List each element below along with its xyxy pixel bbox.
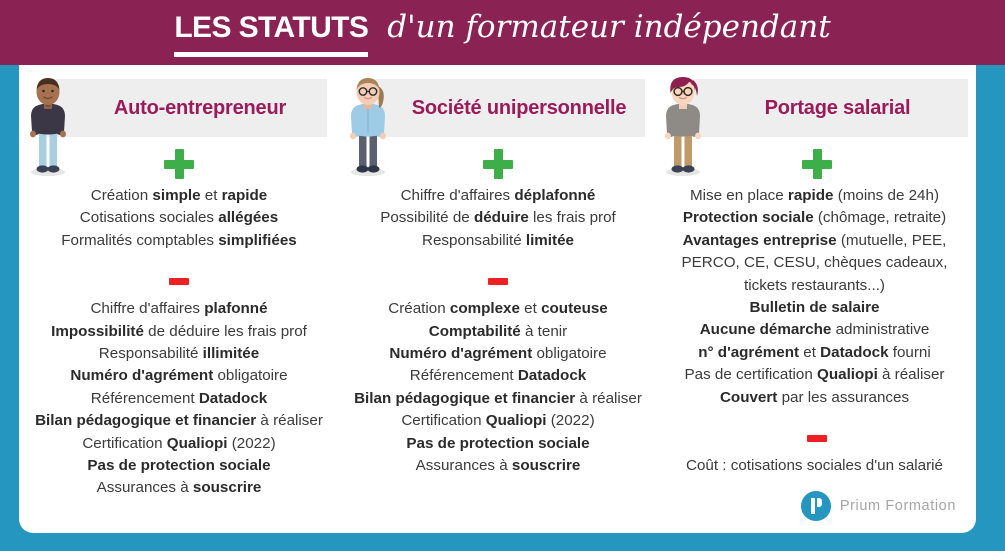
header-title-script: d'un formateur indépendant [387,12,830,43]
list-item: Responsabilité limitée [347,230,649,252]
prium-formation-logo: Prium Formation [801,491,956,521]
pros-list-societe-unipersonnelle: Chiffre d'affaires déplafonné Possibilit… [343,185,653,252]
list-item: Bilan pédagogique et financier à réalise… [27,410,331,432]
list-item: Création simple et rapide [27,185,331,207]
list-item: Impossibilité de déduire les frais prof [27,321,331,343]
list-item: Comptabilité à tenir [347,321,649,343]
list-item: Assurances à souscrire [27,477,331,499]
list-item: Numéro d'agrément obligatoire [347,343,649,365]
minus-icon [343,266,653,296]
list-item: Référencement Datadock [27,388,331,410]
list-item: Cotisations sociales allégées [27,207,331,229]
list-item: Couvert par les assurances [671,387,958,409]
list-item: Coût : cotisations sociales d'un salarié [671,455,958,477]
list-item: Numéro d'agrément obligatoire [27,365,331,387]
header-title-group: LES STATUTS d'un formateur indépendant [174,0,830,47]
infographic-poster: LES STATUTS d'un formateur indépendant [0,0,1005,551]
logo-text: Prium Formation [840,498,956,514]
list-item: Création complexe et couteuse [347,298,649,320]
column-header-auto-entrepreneur: Auto-entrepreneur [47,79,327,137]
pros-list-auto-entrepreneur: Création simple et rapide Cotisations so… [23,185,335,252]
column-header-portage-salarial: Portage salarial [681,79,968,137]
list-item: Pas de certification Qualiopi à réaliser [671,364,958,386]
cons-list-auto-entrepreneur: Chiffre d'affaires plafonné Impossibilit… [23,298,335,500]
list-item: Protection sociale (chômage, retraite) [671,207,958,229]
prium-p-logo-icon [801,491,831,521]
header-banner: LES STATUTS d'un formateur indépendant [0,0,1005,65]
column-societe-unipersonnelle: Société unipersonnelle Chiffre d'affaire… [339,79,657,533]
list-item: Mise en place rapide (moins de 24h) [671,185,958,207]
list-item: Bulletin de salaire [671,297,958,319]
content-card: Auto-entrepreneur Création simple et rap… [19,65,976,533]
column-title: Portage salarial [739,97,911,120]
man-avatar [22,74,74,179]
column-header-societe-unipersonnelle: Société unipersonnelle [367,79,645,137]
woman-redhair-avatar [657,74,709,179]
list-item: Certification Qualiopi (2022) [27,433,331,455]
list-item: Pas de protection sociale [347,433,649,455]
column-title: Auto-entrepreneur [88,97,286,120]
minus-icon [23,266,335,296]
list-item: Certification Qualiopi (2022) [347,410,649,432]
list-item: Assurances à souscrire [347,455,649,477]
list-item: n° d'agrément et Datadock fourni [671,342,958,364]
cons-list-societe-unipersonnelle: Création complexe et couteuse Comptabili… [343,298,653,477]
list-item: Chiffre d'affaires déplafonné [347,185,649,207]
column-title: Société unipersonnelle [386,97,627,120]
list-item: Bilan pédagogique et financier à réalise… [347,388,649,410]
list-item: Possibilité de déduire les frais prof [347,207,649,229]
list-item: Référencement Datadock [347,365,649,387]
header-title-strong: LES STATUTS [174,13,368,47]
cons-list-portage-salarial: Coût : cotisations sociales d'un salarié [661,455,972,477]
woman-ponytail-avatar [342,74,394,179]
columns-container: Auto-entrepreneur Création simple et rap… [19,65,976,533]
column-portage-salarial: Portage salarial Mise en place rapide (m… [657,79,976,533]
list-item: Responsabilité illimitée [27,343,331,365]
list-item: Formalités comptables simplifiées [27,230,331,252]
pros-list-portage-salarial: Mise en place rapide (moins de 24h) Prot… [661,185,972,409]
list-item: Avantages entreprise (mutuelle, PEE, PER… [671,230,958,297]
list-item: Chiffre d'affaires plafonné [27,298,331,320]
list-item: Aucune démarche administrative [671,319,958,341]
minus-icon [661,423,972,453]
column-auto-entrepreneur: Auto-entrepreneur Création simple et rap… [19,79,339,533]
list-item: Pas de protection sociale [27,455,331,477]
